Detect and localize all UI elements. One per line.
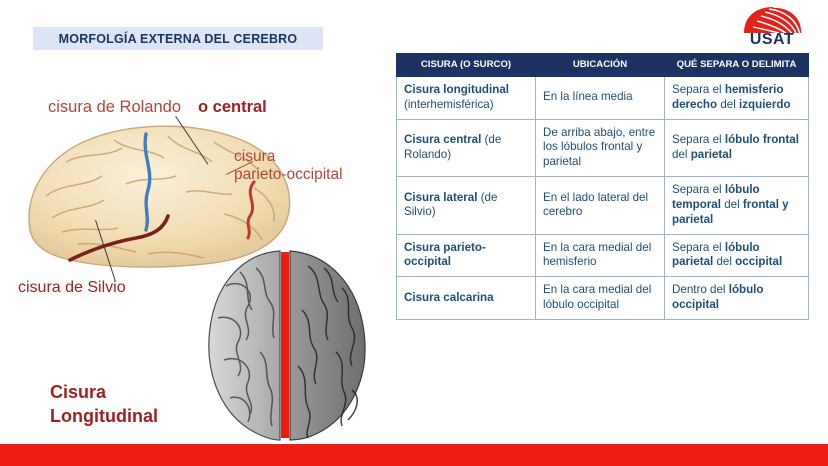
cell-cisura: Cisura parieto-occipital [397, 234, 536, 277]
cell-ubicacion: En el lado lateral del cerebro [536, 177, 665, 234]
label-cisura-de-rolando: cisura de Rolando [48, 98, 181, 117]
slide-canvas: MORFOLGÍA EXTERNA DEL CEREBRO USAT [0, 0, 828, 466]
cell-separa: Separa el lóbulo temporal del frontal y … [665, 177, 809, 234]
cell-ubicacion: De arriba abajo, entre los lóbulos front… [536, 119, 665, 176]
cisura-name: Cisura lateral [404, 191, 477, 204]
separa-term-2: occipital [735, 255, 782, 268]
cell-separa: Separa el hemisferio derecho del izquier… [665, 76, 809, 119]
superior-brain-image [190, 248, 382, 444]
page-title: MORFOLGÍA EXTERNA DEL CEREBRO [59, 32, 298, 46]
cisura-alt-name: (interhemisférica) [404, 98, 494, 111]
separa-term-2: parietal [691, 148, 732, 161]
longitudinal-fissure-line [281, 252, 289, 438]
cell-cisura: Cisura central (de Rolando) [397, 119, 536, 176]
cell-cisura: Cisura calcarina [397, 277, 536, 320]
table-header: CISURA (O SURCO) UBICACIÓN QUÉ SEPARA O … [397, 54, 809, 77]
fissures-table: CISURA (O SURCO) UBICACIÓN QUÉ SEPARA O … [396, 53, 809, 320]
label-longitudinal-line1: Cisura [50, 380, 158, 404]
page-title-banner: MORFOLGÍA EXTERNA DEL CEREBRO [33, 27, 323, 50]
cisura-name: Cisura central [404, 133, 481, 146]
separa-term-1: lóbulo frontal [725, 133, 799, 146]
cell-cisura: Cisura lateral (de Silvio) [397, 177, 536, 234]
label-po-line2: parieto-occipital [234, 166, 343, 184]
cell-ubicacion: En la línea media [536, 76, 665, 119]
usat-wordmark: USAT [736, 31, 808, 49]
column-header-cisura: CISURA (O SURCO) [397, 54, 536, 77]
separa-prefix: Dentro del [672, 283, 729, 296]
table-body: Cisura longitudinal (interhemisférica)En… [397, 76, 809, 319]
table-row: Cisura lateral (de Silvio)En el lado lat… [397, 177, 809, 234]
cisura-name: Cisura calcarina [404, 291, 494, 304]
separa-connector: del [672, 148, 691, 161]
separa-prefix: Separa el [672, 241, 725, 254]
separa-connector: del [721, 198, 743, 211]
table-row: Cisura parieto-occipitalEn la cara media… [397, 234, 809, 277]
label-longitudinal-line2: Longitudinal [50, 404, 158, 428]
separa-prefix: Separa el [672, 183, 725, 196]
usat-logo: USAT [736, 6, 808, 52]
table-row: Cisura central (de Rolando)De arriba aba… [397, 119, 809, 176]
separa-term-2: izquierdo [739, 98, 791, 111]
separa-connector: del [713, 255, 735, 268]
cell-ubicacion: En la cara medial del hemisferio [536, 234, 665, 277]
cell-separa: Dentro del lóbulo occipital [665, 277, 809, 320]
cell-ubicacion: En la cara medial del lóbulo occipital [536, 277, 665, 320]
bottom-accent-bar [0, 444, 828, 466]
cell-cisura: Cisura longitudinal (interhemisférica) [397, 76, 536, 119]
separa-prefix: Separa el [672, 83, 725, 96]
column-header-ubicacion: UBICACIÓN [536, 54, 665, 77]
brain-illustration-group: cisura de Rolando o central cisura parie… [0, 58, 392, 440]
label-o-central: o central [198, 98, 267, 117]
label-cisura-longitudinal: Cisura Longitudinal [50, 380, 158, 429]
table-row: Cisura longitudinal (interhemisférica)En… [397, 76, 809, 119]
fan-swoosh-icon [742, 6, 804, 34]
column-header-separa: QUÉ SEPARA O DELIMITA [665, 54, 809, 77]
cisura-name: Cisura parieto-occipital [404, 241, 486, 269]
fissures-table-container: CISURA (O SURCO) UBICACIÓN QUÉ SEPARA O … [396, 53, 808, 320]
cisura-name: Cisura longitudinal [404, 83, 509, 96]
label-cisura-de-silvio: cisura de Silvio [18, 279, 126, 297]
table-row: Cisura calcarinaEn la cara medial del ló… [397, 277, 809, 320]
label-cisura-parieto-occipital: cisura parieto-occipital [234, 148, 343, 184]
cell-separa: Separa el lóbulo parietal del occipital [665, 234, 809, 277]
label-po-line1: cisura [234, 148, 343, 166]
separa-connector: del [717, 98, 739, 111]
table-header-row: CISURA (O SURCO) UBICACIÓN QUÉ SEPARA O … [397, 54, 809, 77]
cell-separa: Separa el lóbulo frontal del parietal [665, 119, 809, 176]
separa-prefix: Separa el [672, 133, 725, 146]
